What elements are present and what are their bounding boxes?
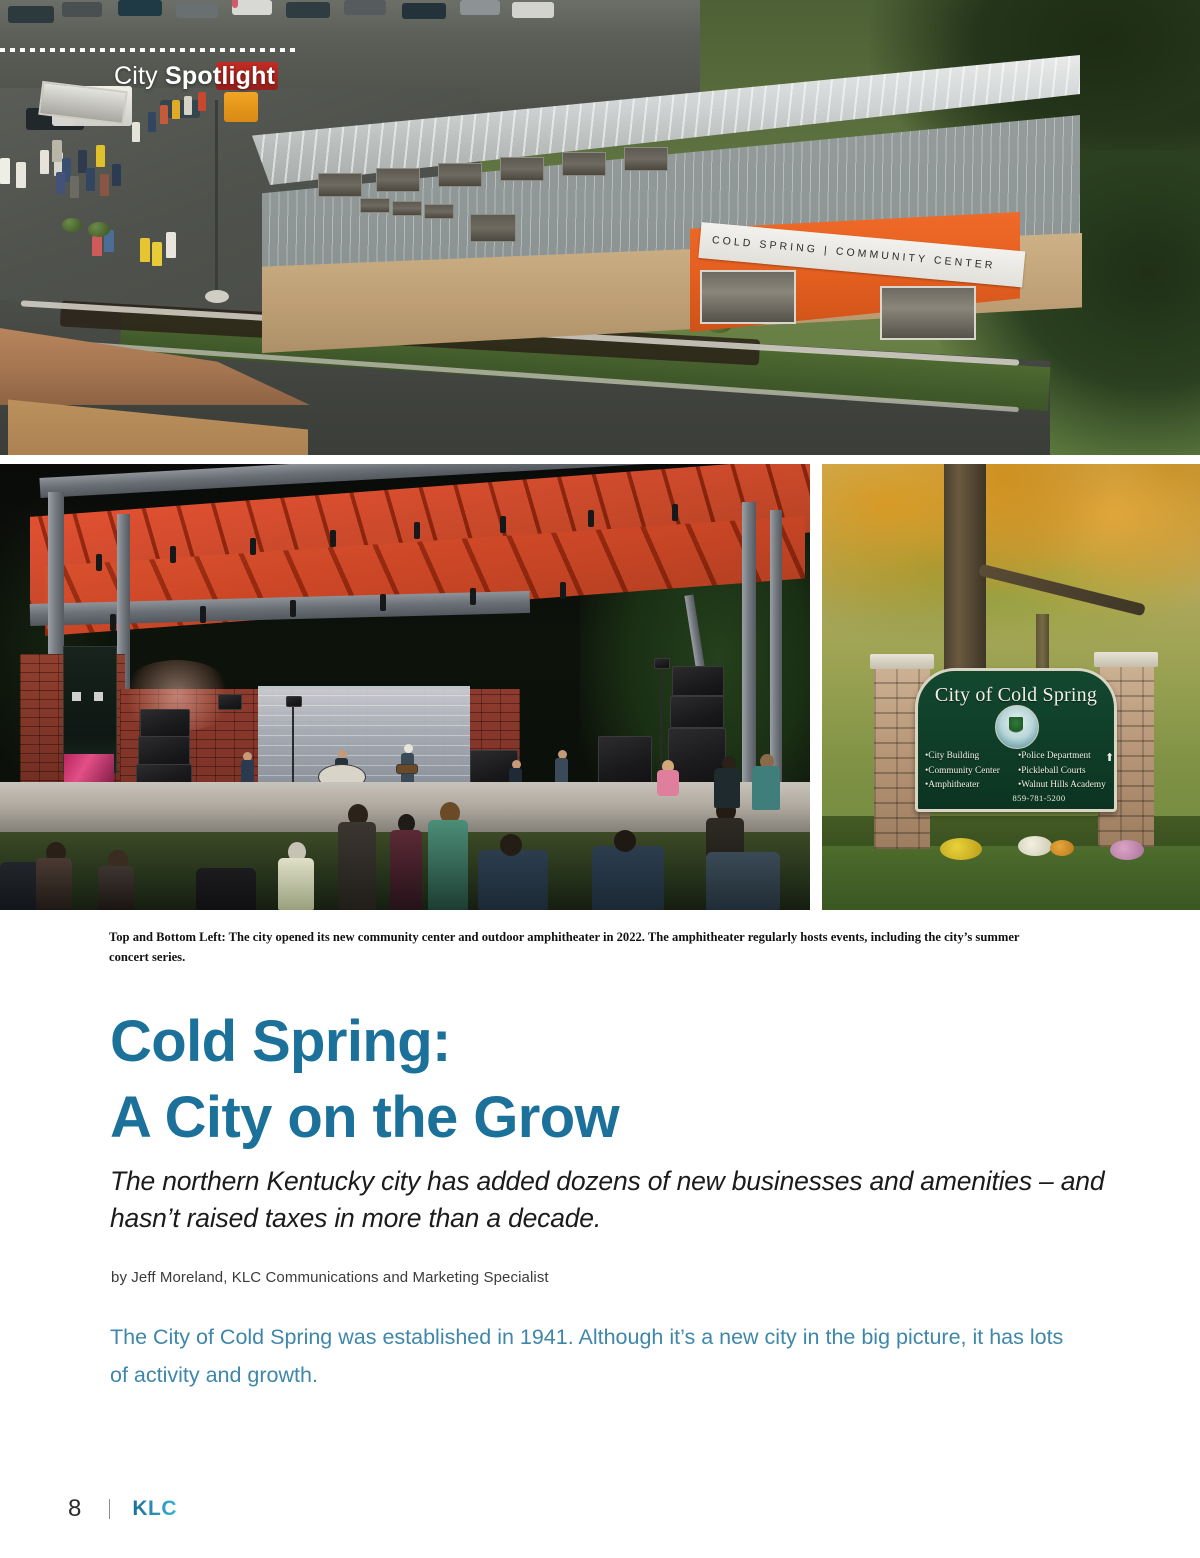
headline-line-1: Cold Spring:	[110, 1004, 1010, 1080]
building-window	[376, 168, 420, 192]
crowd-person-yellow	[140, 238, 150, 262]
stage-light	[110, 614, 116, 631]
service-window	[424, 204, 454, 219]
footer-separator	[109, 1499, 110, 1519]
stage-light	[250, 538, 256, 555]
crowd-person	[100, 174, 109, 196]
stage-light	[414, 522, 420, 539]
stage-light	[96, 554, 102, 571]
crowd-person	[160, 105, 168, 124]
audience-person	[714, 768, 740, 808]
article-byline: by Jeff Moreland, KLC Communications and…	[111, 1269, 1011, 1286]
adjacent-roof	[0, 325, 310, 405]
crowd-person	[132, 122, 140, 142]
sign-amenities: City Building Community Center Amphithea…	[925, 749, 1107, 793]
audience-person	[338, 822, 376, 910]
sign-amenity-item: Police Department	[1018, 749, 1107, 764]
sign-amenity-item: Community Center	[925, 764, 1014, 779]
audience-person	[278, 858, 314, 910]
crowd-person	[70, 176, 79, 198]
folding-chair	[196, 868, 256, 910]
crowd-person-yellow	[152, 242, 162, 266]
flower-bed-orange	[1050, 840, 1074, 856]
adjacent-building	[0, 325, 310, 455]
stage-light	[200, 606, 206, 623]
light-fixture	[286, 696, 302, 707]
city-sign-board: City of Cold Spring City Building Commun…	[915, 668, 1117, 812]
magazine-page: COLD SPRING | COMMUNITY CENTER City Spot…	[0, 0, 1200, 1558]
stage-light	[330, 530, 336, 547]
sign-amenities-left: City Building Community Center Amphithea…	[925, 749, 1014, 793]
folding-chair	[478, 850, 548, 910]
parked-vehicle	[344, 0, 386, 15]
audience-child	[657, 770, 679, 796]
crowd-person	[56, 172, 65, 194]
audience-person	[98, 866, 134, 910]
parked-vehicle	[118, 0, 162, 16]
stage-light	[470, 588, 476, 605]
section-kicker: City Spotlight	[114, 62, 275, 91]
building-window	[438, 163, 482, 187]
audience-person	[752, 766, 780, 810]
pillar-cap-right	[1094, 652, 1158, 667]
sign-amenity-item: City Building	[925, 749, 1014, 764]
stage-light	[672, 504, 678, 521]
crowd-person	[52, 140, 62, 162]
banner-qr-code	[94, 692, 103, 701]
parked-vehicle	[460, 0, 500, 15]
stage-light	[170, 546, 176, 563]
banner-qr-code	[72, 692, 81, 701]
article-lead-paragraph: The City of Cold Spring was established …	[110, 1318, 1070, 1394]
stage-light	[290, 600, 296, 617]
entry-window	[880, 286, 976, 340]
building-window	[500, 157, 544, 181]
sign-amenity-item: Pickleball Courts	[1018, 764, 1107, 779]
hero-scene: COLD SPRING | COMMUNITY CENTER City Spot…	[0, 0, 1200, 455]
kicker-dotted-rule	[0, 48, 300, 52]
stage-light	[380, 594, 386, 611]
page-footer: 8 KLC	[68, 1495, 177, 1523]
sign-amenities-right: Police Department Pickleball Courts Waln…	[1018, 749, 1107, 793]
building-window	[318, 173, 362, 197]
parked-vehicle	[176, 2, 218, 18]
seal-tree-icon	[1009, 717, 1023, 735]
performer-head-hat	[404, 744, 413, 753]
flower-bed-pink	[1110, 840, 1144, 860]
sign-phone-number: 859-781-5200	[918, 793, 1114, 803]
shrub	[62, 218, 82, 232]
building-window	[562, 152, 606, 176]
building-window	[624, 147, 668, 171]
folding-chair	[592, 846, 664, 910]
stage-light	[560, 582, 566, 599]
equipment-case	[598, 736, 652, 784]
parked-vehicle	[8, 6, 54, 23]
light-stand	[292, 702, 294, 784]
crowd-person	[166, 232, 176, 258]
klc-logo: KLC	[132, 1497, 177, 1521]
crowd-person	[148, 112, 156, 132]
parked-vehicle	[62, 2, 102, 17]
crowd-person	[0, 158, 10, 184]
kicker-bold-word: Spotlight	[165, 62, 275, 90]
audience-person	[36, 858, 72, 910]
article-deck: The northern Kentucky city has added doz…	[110, 1163, 1110, 1237]
audience-person	[390, 830, 422, 910]
entry-window	[700, 270, 796, 324]
service-window	[392, 201, 422, 216]
crowd-person	[112, 164, 121, 186]
steel-column-right	[742, 502, 756, 792]
article-headline: Cold Spring: A City on the Grow	[110, 1004, 1010, 1156]
parked-vehicle	[232, 0, 272, 15]
kicker-light-word: City	[114, 62, 165, 90]
stage-light	[588, 510, 594, 527]
parked-vehicle	[286, 2, 330, 18]
photo-caption: Top and Bottom Left: The city opened its…	[109, 928, 1061, 967]
parked-vehicle	[402, 3, 446, 19]
pillar-cap-left	[870, 654, 934, 669]
parked-vehicle	[232, 0, 238, 8]
audience-head	[614, 830, 636, 852]
guitar	[396, 764, 418, 774]
sign-title: City of Cold Spring	[918, 684, 1114, 707]
sign-amenity-item: Amphitheater	[925, 778, 1014, 793]
crowd-person	[92, 236, 102, 256]
amphitheater-concert-image	[0, 464, 810, 910]
crowd-person	[40, 150, 49, 174]
crowd-person	[96, 145, 105, 167]
line-array-speaker	[140, 709, 190, 737]
line-array-speaker	[672, 666, 724, 696]
folding-chair	[706, 852, 780, 910]
service-door	[470, 214, 516, 242]
service-window	[360, 198, 390, 213]
steel-column-far-right	[770, 510, 782, 790]
city-entrance-sign-image: City of Cold Spring City Building Commun…	[822, 464, 1200, 910]
crowd-person	[86, 168, 95, 191]
line-array-speaker	[138, 736, 190, 766]
parked-vehicle	[512, 2, 554, 18]
headline-line-2: A City on the Grow	[110, 1080, 1010, 1156]
audience-head	[500, 834, 522, 856]
flower-bed-white	[1018, 836, 1052, 856]
light-fixture	[654, 658, 670, 669]
stage-light	[500, 516, 506, 533]
page-number: 8	[68, 1495, 81, 1523]
flower-bed-yellow	[940, 838, 982, 860]
shrub	[88, 222, 110, 237]
audience-person	[428, 820, 468, 910]
crowd-person	[172, 100, 180, 119]
hero-image-community-center: COLD SPRING | COMMUNITY CENTER City Spot…	[0, 0, 1200, 455]
stage-monitor	[218, 694, 242, 710]
line-array-speaker	[670, 696, 724, 728]
sign-amenity-item: Walnut Hills Academy	[1018, 778, 1107, 793]
crowd-person	[16, 162, 26, 188]
